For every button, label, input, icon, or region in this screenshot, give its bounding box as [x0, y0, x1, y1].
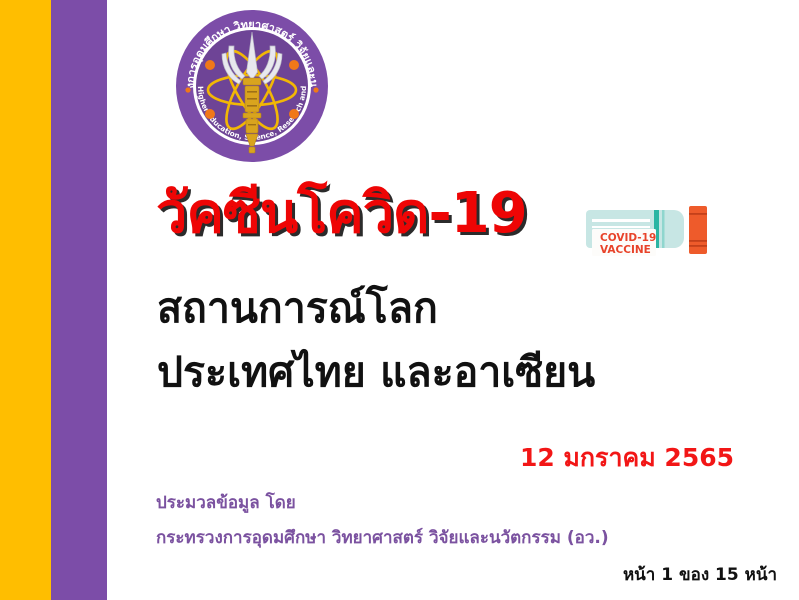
credit-line-2: กระทรวงการอุดมศึกษา วิทยาศาสตร์ วิจัยและ… [156, 524, 609, 551]
vaccine-label-line-1: COVID-19 [600, 232, 656, 244]
page-title: วัคซีนโควิด-19 [156, 186, 527, 242]
left-purple-band [51, 0, 107, 600]
left-yellow-band [0, 0, 51, 600]
page-indicator: หน้า 1 ของ 15 หน้า [623, 561, 777, 588]
credit-line-1: ประมวลข้อมูล โดย [156, 489, 296, 516]
ministry-logo: กระทรวงการอุดมศึกษา วิทยาศาสตร์ วิจัยและ… [172, 6, 332, 166]
vaccine-label-line-2: VACCINE [600, 244, 651, 256]
presentation-slide: กระทรวงการอุดมศึกษา วิทยาศาสตร์ วิจัยและ… [0, 0, 799, 600]
report-date: 12 มกราคม 2565 [520, 438, 734, 478]
covid-19-vaccine-vial-icon: COVID-19 VACCINE [586, 196, 708, 262]
subtitle-line-2: ประเทศไทย และอาเซียน [157, 352, 595, 393]
subtitle-line-1: สถานการณ์โลก [157, 288, 438, 329]
